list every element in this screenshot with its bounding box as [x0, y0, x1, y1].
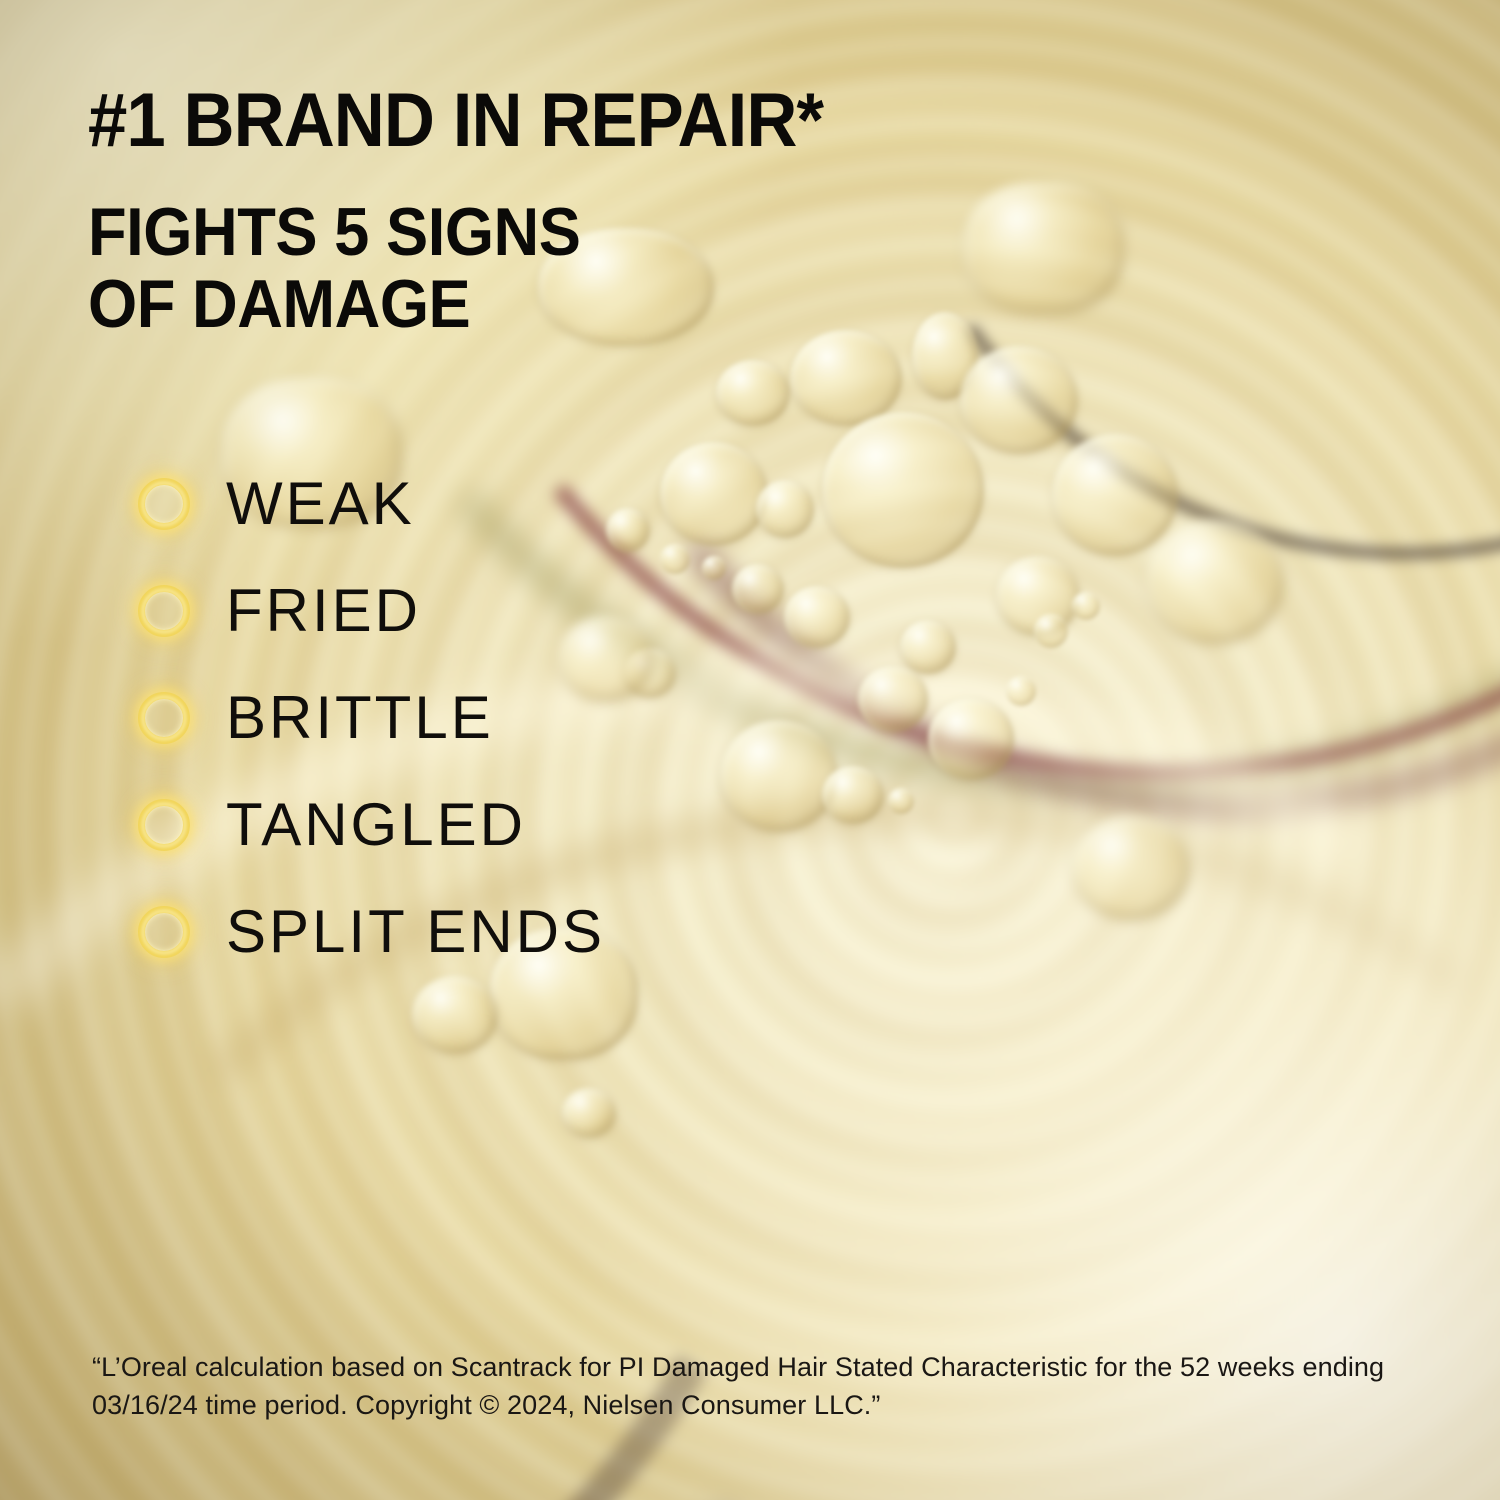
list-item: SPLIT ENDS — [138, 878, 858, 985]
subheadline-line-1: FIGHTS 5 SIGNS — [88, 196, 580, 268]
subheadline-line-2: OF DAMAGE — [88, 268, 580, 340]
damage-sign-label: WEAK — [226, 474, 415, 534]
list-item: FRIED — [138, 557, 858, 664]
creative-canvas: #1 BRAND IN REPAIR* FIGHTS 5 SIGNS OF DA… — [0, 0, 1500, 1500]
brand-claim-headline: #1 BRAND IN REPAIR* — [88, 84, 823, 158]
list-item: TANGLED — [138, 771, 858, 878]
gold-ring-icon — [138, 692, 190, 744]
gold-ring-icon — [138, 478, 190, 530]
creative-content: #1 BRAND IN REPAIR* FIGHTS 5 SIGNS OF DA… — [0, 0, 1500, 1500]
subheadline: FIGHTS 5 SIGNS OF DAMAGE — [88, 196, 580, 340]
damage-signs-list: WEAK FRIED BRITTLE TANGLED SPLIT ENDS — [138, 450, 858, 985]
damage-sign-label: BRITTLE — [226, 688, 494, 748]
damage-sign-label: FRIED — [226, 581, 421, 641]
list-item: BRITTLE — [138, 664, 858, 771]
gold-ring-icon — [138, 585, 190, 637]
damage-sign-label: TANGLED — [226, 795, 526, 855]
damage-sign-label: SPLIT ENDS — [226, 902, 605, 962]
gold-ring-icon — [138, 799, 190, 851]
list-item: WEAK — [138, 450, 858, 557]
gold-ring-icon — [138, 906, 190, 958]
legal-footnote: “L’Oreal calculation based on Scantrack … — [92, 1348, 1422, 1425]
